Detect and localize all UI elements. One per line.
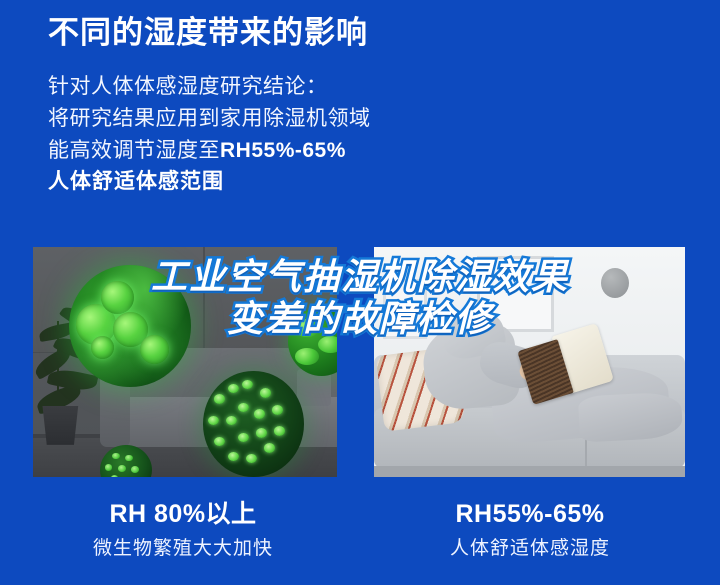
virus-spot (226, 416, 237, 426)
virus-spot (228, 384, 239, 394)
germ-cell (318, 336, 337, 353)
caption-right-heading: RH55%-65% (375, 498, 685, 531)
picture-frame (383, 279, 427, 339)
header-line-3: 能高效调节湿度至RH55%-65% (48, 135, 688, 167)
photo-right-comfort-room (374, 247, 685, 477)
header-line-2: 将研究结果应用到家用除湿机领域 (48, 103, 688, 135)
virus-spot (105, 464, 113, 471)
virus-spot (242, 380, 253, 390)
virus-spot (228, 452, 239, 462)
virus-sphere-icon (203, 371, 303, 477)
dark-living-room-scene (33, 247, 337, 477)
virus-spot (208, 416, 219, 426)
bright-living-room-scene (374, 247, 685, 477)
germ-cell (101, 281, 134, 314)
wall-knob (601, 268, 629, 298)
virus-spot (260, 388, 271, 398)
germ-cell (294, 319, 321, 337)
header-line-4: 人体舒适体感范围 (48, 166, 688, 198)
sofa-shadow (374, 466, 685, 478)
header-block: 不同的湿度带来的影响 针对人体体感湿度研究结论： 将研究结果应用到家用除湿机领域… (48, 14, 688, 198)
virus-spot (272, 405, 283, 415)
page-title: 不同的湿度带来的影响 (48, 14, 688, 53)
germ-cell (295, 348, 319, 365)
photo-left-humid-room (33, 247, 337, 477)
header-line-1: 针对人体体感湿度研究结论： (48, 71, 688, 103)
virus-spot (118, 465, 126, 472)
header-line-3-prefix: 能高效调节湿度至 (48, 139, 220, 162)
header-body-lines: 针对人体体感湿度研究结论： 将研究结果应用到家用除湿机领域 能高效调节湿度至RH… (48, 71, 688, 199)
caption-right-subtext: 人体舒适体感湿度 (375, 537, 685, 562)
virus-spot (256, 428, 267, 438)
virus-spot (111, 475, 119, 477)
caption-left: RH 80%以上 微生物繁殖大大加快 (33, 498, 359, 578)
microbe-cluster-icon (69, 265, 191, 387)
virus-spot (125, 455, 133, 462)
virus-spot (238, 403, 249, 413)
virus-spot (264, 443, 275, 453)
photo-row (33, 247, 685, 477)
virus-spot (246, 454, 257, 464)
virus-spot (238, 433, 249, 443)
wall-seam (203, 247, 205, 353)
header-line-3-emphasis: RH55%-65% (220, 139, 346, 162)
virus-spot (254, 409, 265, 419)
caption-left-subtext: 微生物繁殖大大加快 (33, 537, 333, 562)
germ-cell (140, 335, 169, 364)
virus-spot (131, 466, 139, 473)
virus-spot (112, 453, 120, 460)
caption-right: RH55%-65% 人体舒适体感湿度 (359, 498, 685, 578)
caption-left-heading: RH 80%以上 (33, 498, 333, 531)
virus-spot (214, 394, 225, 404)
caption-row: RH 80%以上 微生物繁殖大大加快 RH55%-65% 人体舒适体感湿度 (33, 498, 685, 578)
virus-spot (274, 426, 285, 436)
virus-spot (214, 437, 225, 447)
infographic-page: 不同的湿度带来的影响 针对人体体感湿度研究结论： 将研究结果应用到家用除湿机领域… (0, 0, 720, 585)
